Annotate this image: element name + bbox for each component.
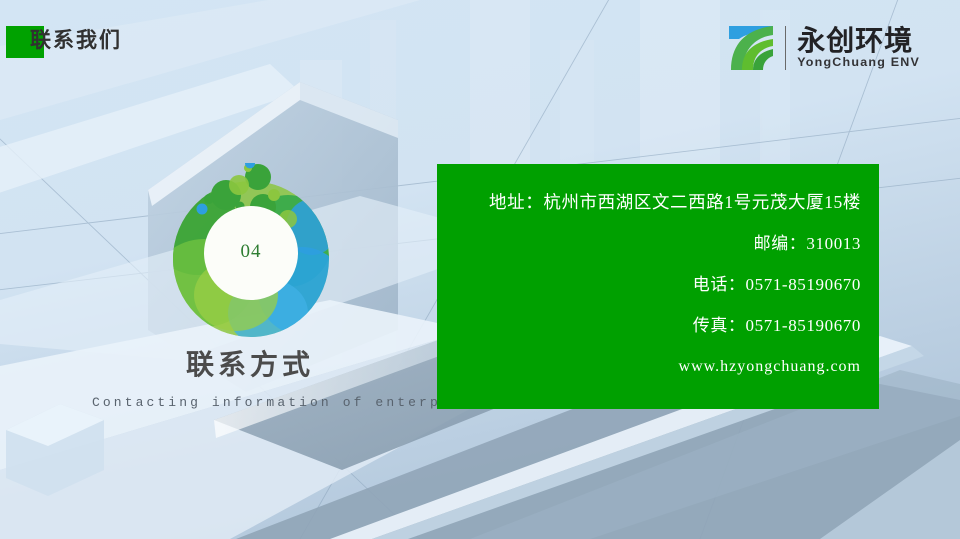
logo-name-en: YongChuang ENV	[797, 56, 920, 70]
section-number-badge: 04	[162, 163, 340, 341]
contact-fax: 传真：0571-85190670	[693, 305, 861, 346]
section-subtitle: Contacting information of enterprise	[92, 394, 484, 412]
slide-contact-us: 联系我们 永创环境 YongChuang ENV	[0, 0, 960, 539]
section-number: 04	[162, 163, 340, 341]
contact-website[interactable]: www.hzyongchuang.com	[679, 346, 861, 387]
slide-header: 联系我们 永创环境 YongChuang ENV	[0, 0, 960, 80]
logo-divider	[785, 26, 786, 70]
company-logo: 永创环境 YongChuang ENV	[723, 22, 920, 74]
page-title: 联系我们	[30, 24, 122, 58]
contact-phone: 电话：0571-85190670	[693, 264, 861, 305]
contact-address: 地址：杭州市西湖区文二西路1号元茂大厦15楼	[489, 182, 861, 223]
section-title: 联系方式	[186, 348, 314, 382]
contact-postcode: 邮编：310013	[754, 223, 861, 264]
contact-info-panel: 地址：杭州市西湖区文二西路1号元茂大厦15楼 邮编：310013 电话：0571…	[437, 164, 879, 409]
logo-swoosh-icon	[723, 23, 779, 73]
logo-name-cn: 永创环境	[797, 26, 920, 56]
logo-text-block: 永创环境 YongChuang ENV	[797, 26, 920, 71]
